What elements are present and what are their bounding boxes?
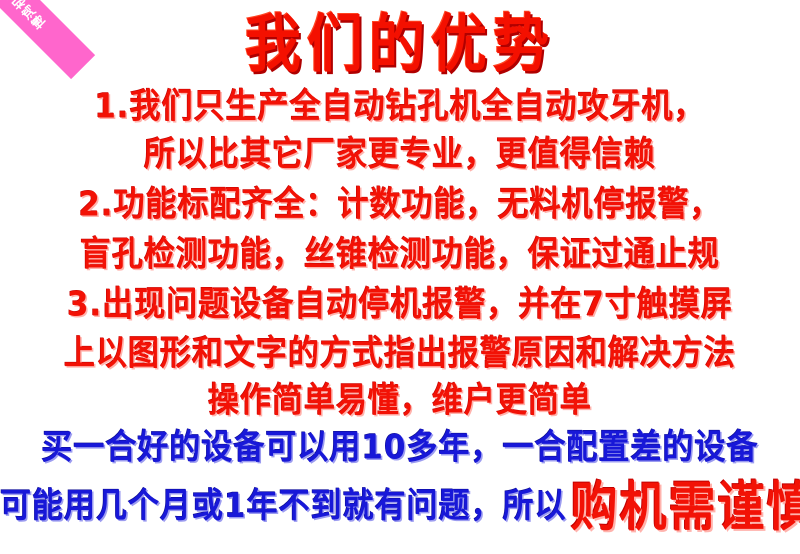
advantage-line-3: 2.功能标配齐全：计数功能，无料机停报警， bbox=[0, 188, 800, 222]
advantage-line-7: 操作简单易懂，维户更简单 bbox=[0, 384, 800, 418]
poster-text-block: 我们的优势 1.我们只生产全自动钻孔机全自动攻牙机， 所以比其它厂家更专业，更值… bbox=[0, 0, 800, 554]
advantage-line-5: 3.出现问题设备自动停机报警，并在7寸触摸屏 bbox=[0, 288, 800, 322]
closing-line-red-emphasis: 购机需谨慎 bbox=[571, 481, 800, 534]
closing-line: 可能用几个月或1年不到就有问题，所以购机需谨慎 bbox=[0, 484, 800, 531]
advantage-line-1: 1.我们只生产全自动钻孔机全自动攻牙机， bbox=[0, 90, 800, 124]
advantage-line-2: 所以比其它厂家更专业，更值得信赖 bbox=[0, 138, 800, 172]
advantage-line-8: 买一合好的设备可以用10多年，一合配置差的设备 bbox=[0, 431, 800, 465]
advantage-line-6: 上以图形和文字的方式指出报警原因和解决方法 bbox=[0, 337, 800, 371]
advantages-poster: 博鸿机械 我们的优势 1.我们只生产全自动钻孔机全自动攻牙机， 所以比其它厂家更… bbox=[0, 0, 800, 554]
closing-line-blue-segment: 可能用几个月或1年不到就有问题，所以 bbox=[0, 489, 567, 523]
advantage-line-4: 盲孔检测功能，丝锥检测功能，保证过通止规 bbox=[0, 238, 800, 272]
page-title: 我们的优势 bbox=[0, 14, 800, 77]
